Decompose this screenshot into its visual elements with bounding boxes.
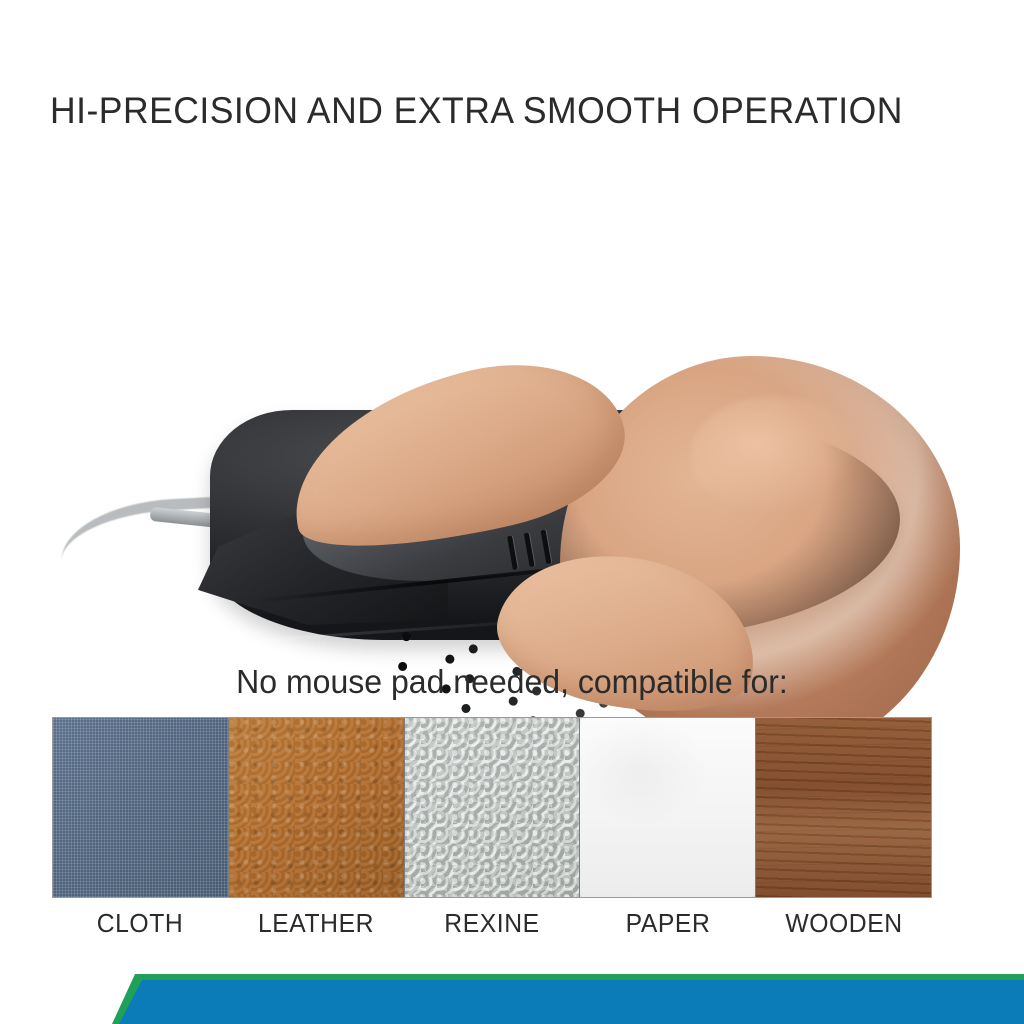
wooden-swatch [756,718,931,897]
hand-knuckle [690,396,860,516]
leather-swatch [229,718,405,897]
surface-label-row: CLOTH LEATHER REXINE PAPER WOODEN [52,906,932,940]
cloth-swatch [53,718,229,897]
rexine-swatch [405,718,581,897]
surface-swatch-strip [52,717,932,898]
surface-label-wooden: WOODEN [760,906,927,940]
surface-label-leather: LEATHER [232,906,399,940]
surface-label-rexine: REXINE [408,906,575,940]
page-title: HI-PRECISION AND EXTRA SMOOTH OPERATION [50,88,943,134]
paper-swatch [580,718,756,897]
banner-blue-bar [0,974,1024,1024]
bottom-banner [0,974,1024,1024]
surface-label-cloth: CLOTH [56,906,223,940]
compatibility-subtitle: No mouse pad needed, compatible for: [15,660,1008,704]
product-photo [0,160,1024,660]
surface-label-paper: PAPER [584,906,751,940]
